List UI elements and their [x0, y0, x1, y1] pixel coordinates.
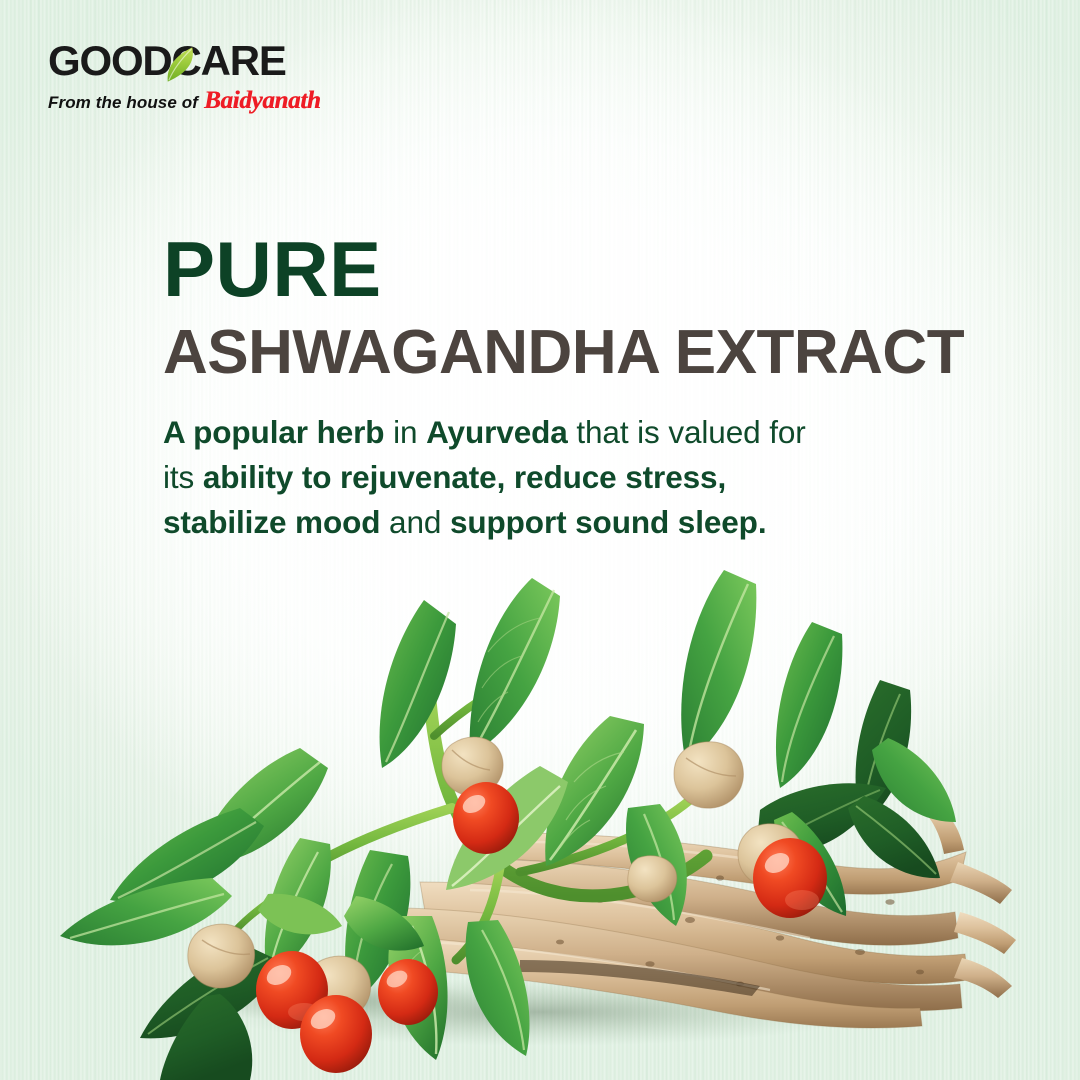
body-copy: A popular herb in Ayurveda that is value… — [163, 410, 1043, 544]
leaf-upper-left — [380, 600, 456, 768]
brand-wordmark-text: GOODCARE — [48, 37, 286, 84]
headline-line-2: ASHWAGANDHA EXTRACT — [163, 321, 1043, 384]
husk-6 — [628, 856, 677, 902]
ashwagandha-plant-photo — [0, 560, 1080, 1080]
body-l1-d: that is valued for — [568, 414, 806, 450]
husk-4 — [188, 924, 255, 988]
tagline-prefix: From the house of — [48, 93, 198, 113]
brand-wordmark: GOODCARE — [48, 40, 348, 82]
plant-illustration — [0, 560, 1080, 1080]
berry-center-mid — [453, 782, 519, 854]
body-l2-b: ability to rejuvenate, reduce stress, — [203, 459, 726, 495]
body-l3-c: support sound sleep. — [450, 504, 767, 540]
leaf-upper-right-tall — [681, 570, 756, 764]
body-l1-c: Ayurveda — [426, 414, 568, 450]
leaf-upper-right-2 — [776, 622, 842, 788]
husk-2 — [674, 742, 743, 808]
berry-left-lower — [300, 995, 372, 1073]
headline-line-1: PURE — [163, 232, 1043, 307]
copy-block: PURE ASHWAGANDHA EXTRACT A popular herb … — [163, 232, 1043, 544]
brand-logo[interactable]: GOODCARE From the house of Baidyanath — [48, 40, 348, 115]
body-line-1: A popular herb in Ayurveda that is value… — [163, 410, 1043, 455]
body-l3-b: and — [380, 504, 450, 540]
berry-center-low — [378, 959, 438, 1025]
poster-canvas: GOODCARE From the house of Baidyanath PU… — [0, 0, 1080, 1080]
tagline-brand: Baidyanath — [204, 87, 320, 115]
body-line-2: its ability to rejuvenate, reduce stress… — [163, 455, 1043, 500]
body-l2-a: its — [163, 459, 203, 495]
berry-right-upper — [753, 838, 827, 918]
root-tip-3 — [954, 912, 1016, 954]
body-line-3: stabilize mood and support sound sleep. — [163, 500, 1043, 545]
body-l1-a: A popular herb — [163, 414, 384, 450]
leaf-upper-center — [470, 578, 560, 756]
root-tip-2 — [950, 862, 1012, 904]
body-l1-b: in — [384, 414, 426, 450]
root-tip-4 — [954, 958, 1012, 998]
brand-tagline: From the house of Baidyanath — [48, 87, 348, 115]
body-l3-a: stabilize mood — [163, 504, 380, 540]
